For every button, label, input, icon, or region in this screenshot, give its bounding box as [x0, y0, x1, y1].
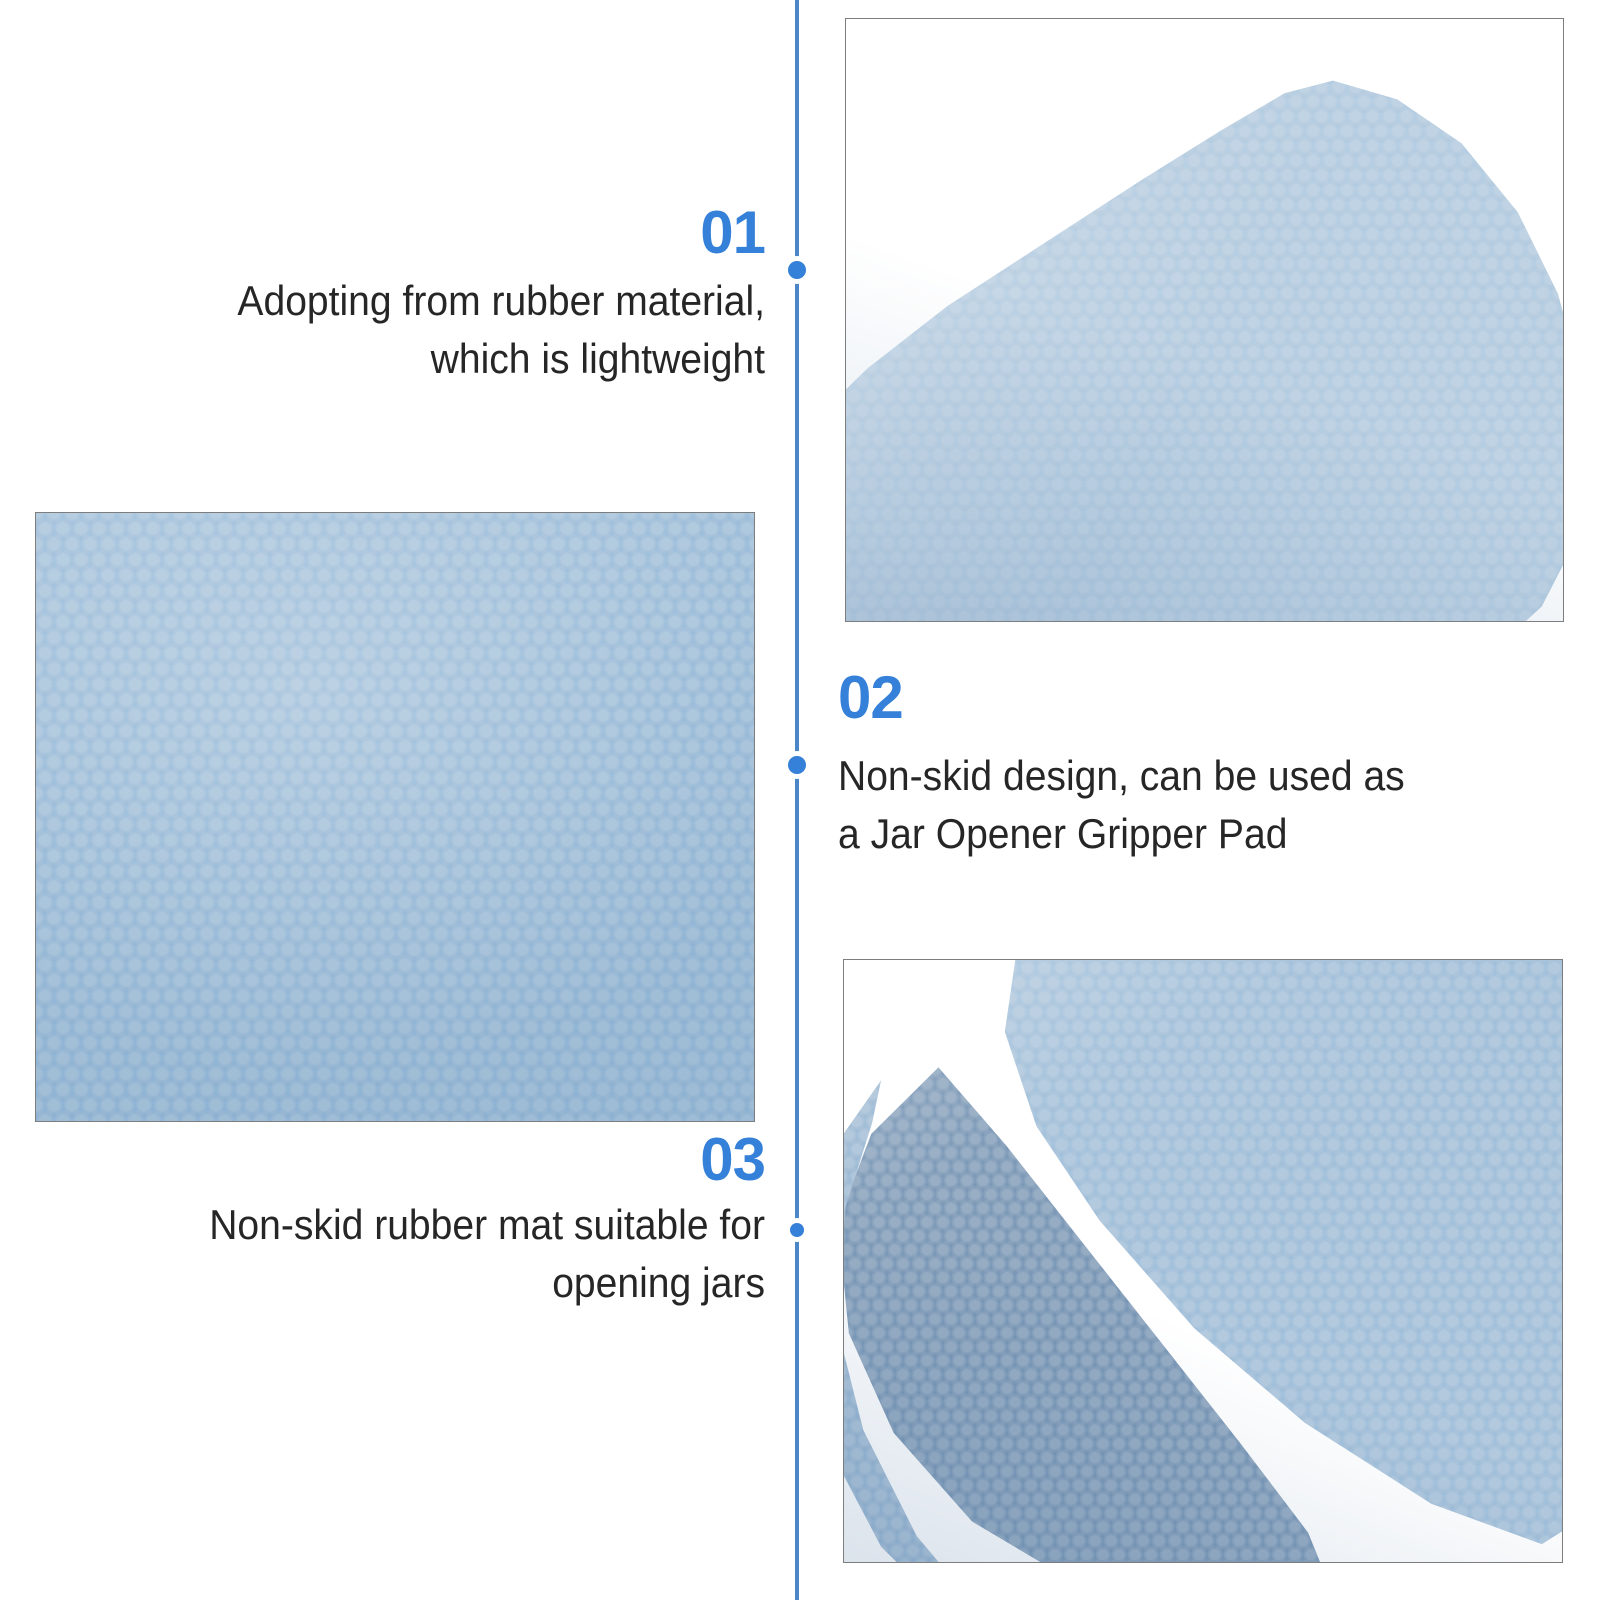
timeline-dot-02 [788, 756, 806, 774]
product-photo-curved-mat [845, 18, 1564, 622]
feature-text-02: Non-skid design, can be used as a Jar Op… [838, 747, 1452, 863]
timeline-dot-01 [788, 261, 806, 279]
feature-text-03: Non-skid rubber mat suitable for opening… [151, 1196, 765, 1312]
product-photo-flat-sheet [35, 512, 755, 1122]
timeline-dot-03 [790, 1223, 804, 1237]
feature-number-02: 02 [838, 668, 903, 728]
honeycomb-texture [845, 43, 1564, 622]
honeycomb-texture [36, 513, 754, 1121]
feature-text-01: Adopting from rubber material, which is … [170, 272, 765, 388]
product-photo-curled-mat [843, 959, 1563, 1563]
feature-number-01: 01 [700, 203, 765, 263]
timeline-vertical-line [795, 0, 799, 1600]
feature-number-03: 03 [700, 1130, 765, 1190]
